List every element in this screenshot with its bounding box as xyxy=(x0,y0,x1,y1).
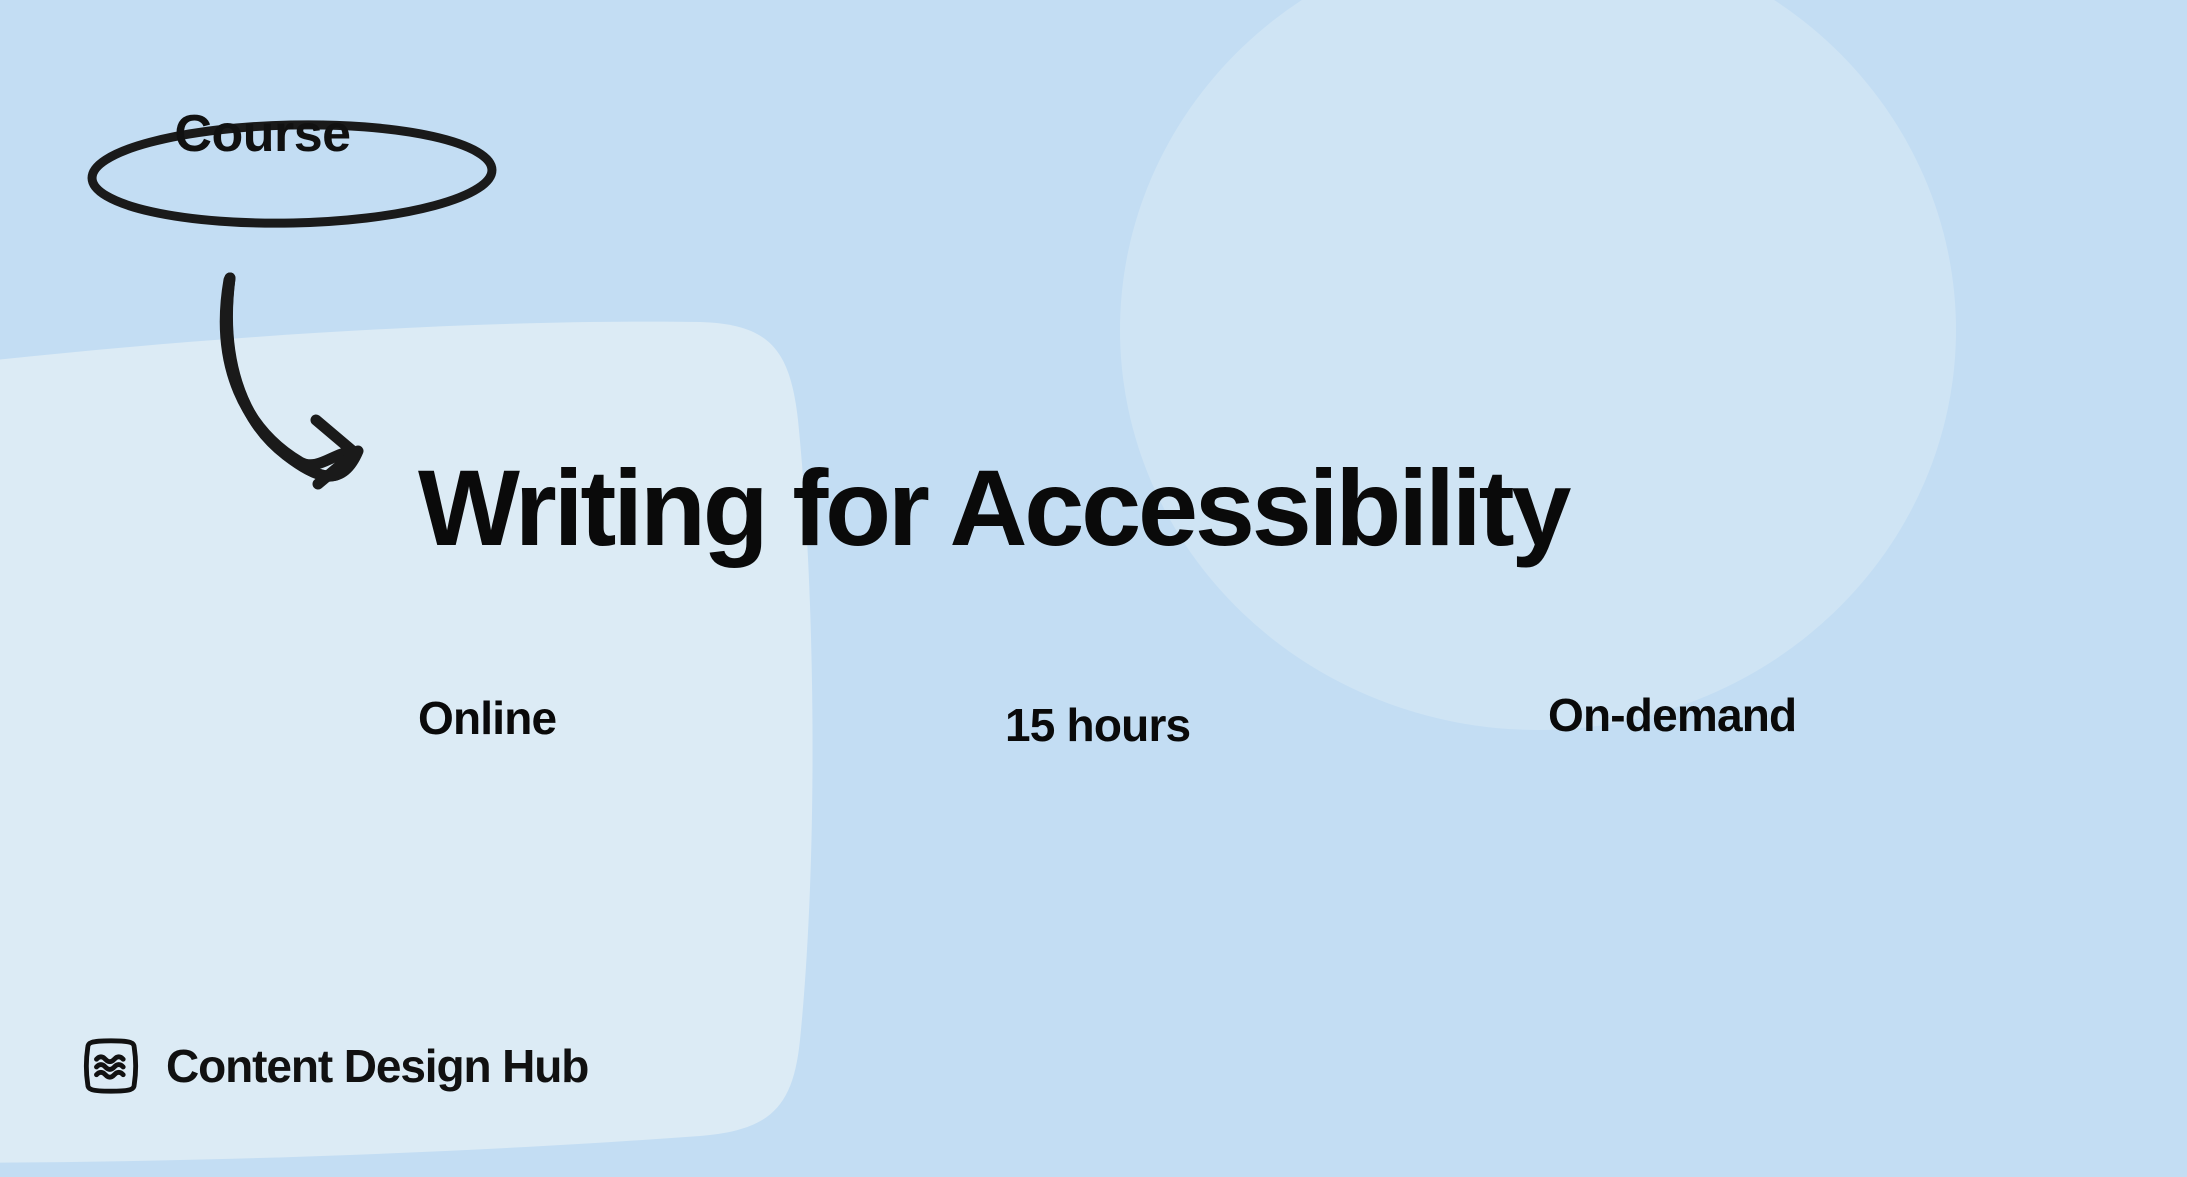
course-promo-card: Course Writing for Accessibility Online … xyxy=(0,0,2187,1177)
course-kicker-label: Course xyxy=(174,108,350,160)
background-shapes xyxy=(0,0,2187,1177)
course-title: Writing for Accessibility xyxy=(418,454,1568,562)
meta-item-format: Online xyxy=(418,693,556,744)
course-meta-row: Online 15 hours On-demand xyxy=(418,690,1978,750)
waves-in-rounded-square-icon xyxy=(80,1035,142,1097)
brand-lockup: Content Design Hub xyxy=(80,1035,588,1097)
meta-item-availability: On-demand xyxy=(1548,690,1796,741)
brand-name: Content Design Hub xyxy=(166,1043,588,1089)
course-kicker-badge: Course xyxy=(90,96,435,172)
meta-item-duration: 15 hours xyxy=(1005,700,1190,751)
